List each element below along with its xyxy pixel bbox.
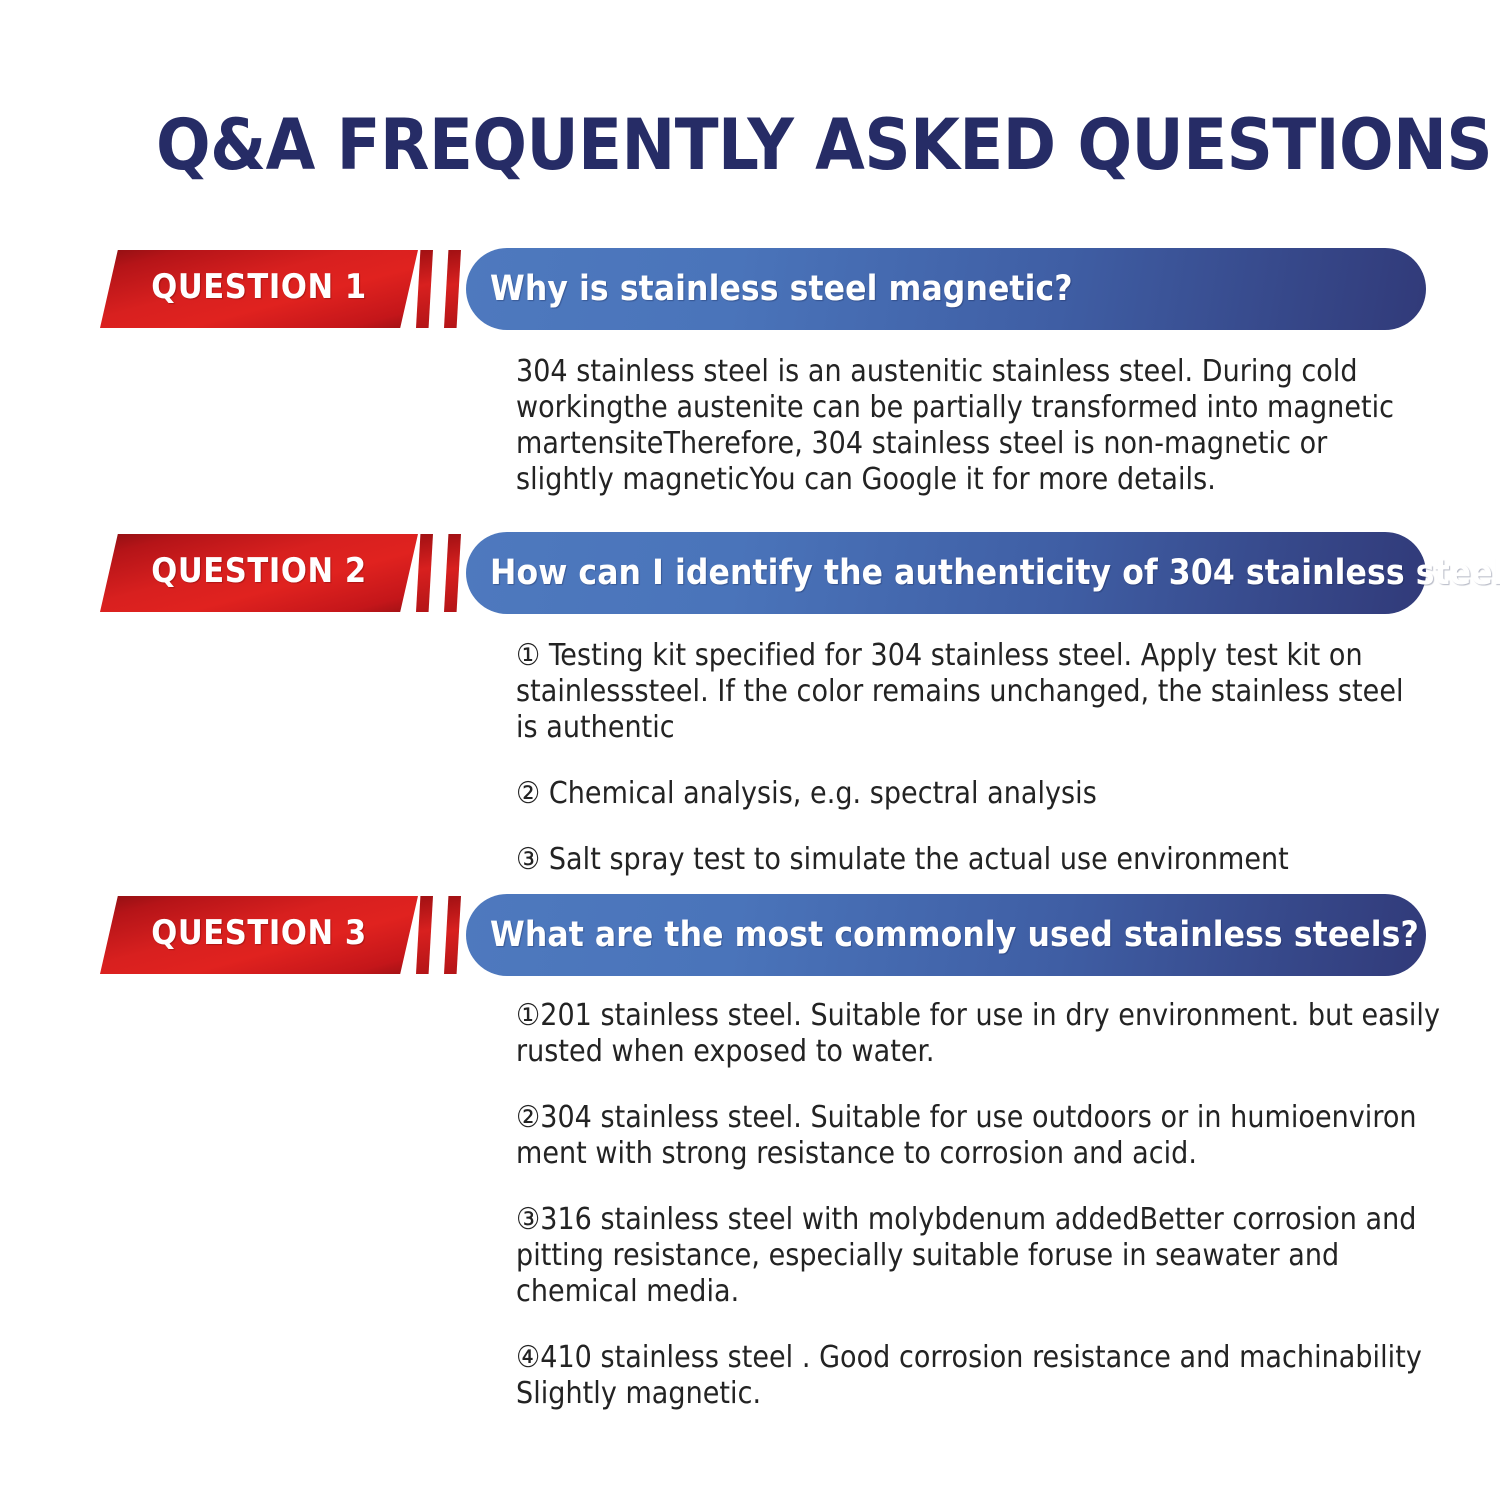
slash-icon-2a	[416, 534, 433, 612]
badge-label-2: QUESTION 2	[100, 532, 418, 610]
answer-body-1: 304 stainless steel is an austenitic sta…	[516, 354, 1422, 498]
badge-label-3: QUESTION 3	[100, 894, 418, 972]
answer-paragraph: ②304 stainless steel. Suitable for use o…	[516, 1100, 1451, 1172]
question-pill-3[interactable]: What are the most commonly used stainles…	[466, 894, 1426, 976]
slash-icon-3b	[444, 896, 461, 974]
page-title: Q&A FREQUENTLY ASKED QUESTIONS	[156, 106, 1380, 184]
answer-body-2: ① Testing kit specified for 304 stainles…	[516, 638, 1422, 878]
answer-paragraph: ③316 stainless steel with molybdenum add…	[516, 1202, 1451, 1310]
question-badge-2[interactable]: QUESTION 2	[100, 532, 460, 614]
answer-paragraph: ④410 stainless steel . Good corrosion re…	[516, 1340, 1451, 1412]
slash-icon-1b	[444, 250, 461, 328]
question-text-2: How can I identify the authenticity of 3…	[490, 553, 1500, 593]
answer-paragraph: ①201 stainless steel. Suitable for use i…	[516, 998, 1451, 1070]
answer-body-3: ①201 stainless steel. Suitable for use i…	[516, 998, 1451, 1412]
slash-icon-2b	[444, 534, 461, 612]
question-badge-3[interactable]: QUESTION 3	[100, 894, 460, 976]
answer-paragraph: ② Chemical analysis, e.g. spectral analy…	[516, 776, 1422, 812]
answer-paragraph: ① Testing kit specified for 304 stainles…	[516, 638, 1422, 746]
question-pill-1[interactable]: Why is stainless steel magnetic?	[466, 248, 1426, 330]
answer-paragraph: ③ Salt spray test to simulate the actual…	[516, 842, 1422, 878]
question-pill-2[interactable]: How can I identify the authenticity of 3…	[466, 532, 1426, 614]
badge-label-1: QUESTION 1	[100, 248, 418, 326]
slash-icon-3a	[416, 896, 433, 974]
slash-icon-1a	[416, 250, 433, 328]
answer-paragraph: 304 stainless steel is an austenitic sta…	[516, 354, 1422, 498]
question-text-3: What are the most commonly used stainles…	[490, 915, 1419, 955]
faq-page: Q&A FREQUENTLY ASKED QUESTIONS QUESTION …	[0, 0, 1500, 1500]
question-text-1: Why is stainless steel magnetic?	[490, 269, 1073, 309]
question-badge-1[interactable]: QUESTION 1	[100, 248, 460, 330]
